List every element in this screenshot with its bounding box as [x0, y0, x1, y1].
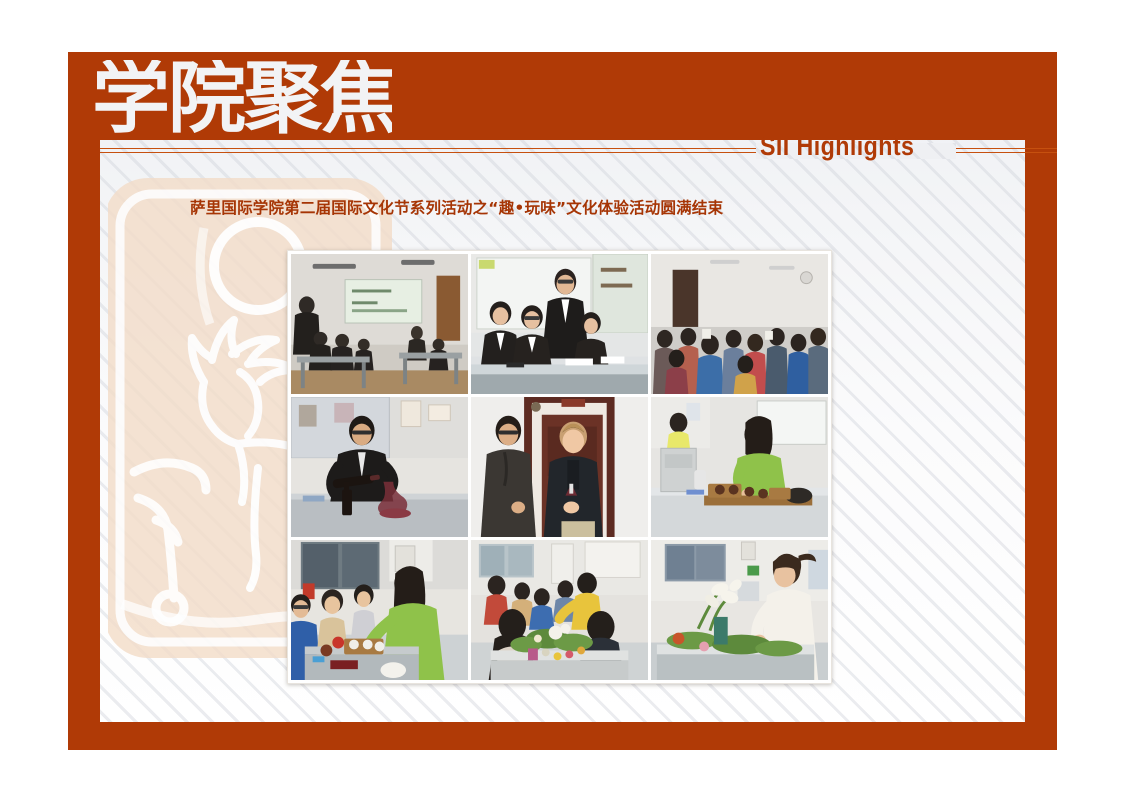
photo-grid: [291, 254, 828, 680]
gallery-photo-2[interactable]: [471, 254, 648, 394]
gallery-photo-5[interactable]: [471, 397, 648, 537]
page-title-en: SII Highlights: [760, 131, 914, 162]
gallery-photo-7[interactable]: [291, 540, 468, 680]
gallery-photo-6[interactable]: [651, 397, 828, 537]
gallery-photo-9[interactable]: [651, 540, 828, 680]
page-title-cn-knockout: 学院聚焦: [92, 60, 392, 142]
gallery-photo-1[interactable]: [291, 254, 468, 394]
article-headline: 萨里国际学院第二届国际文化节系列活动之“趣•玩味”文化体验活动圆满结束: [190, 196, 723, 218]
photo-gallery: [287, 250, 832, 684]
page-title-cn: 学院聚焦: [92, 60, 392, 138]
gallery-photo-8[interactable]: [471, 540, 648, 680]
gallery-photo-4[interactable]: [291, 397, 468, 537]
slide-root: 学院聚焦 学院聚焦 SII Highlights 萨里国际学院第二届国际文化节系…: [0, 0, 1123, 794]
gallery-photo-3[interactable]: [651, 254, 828, 394]
